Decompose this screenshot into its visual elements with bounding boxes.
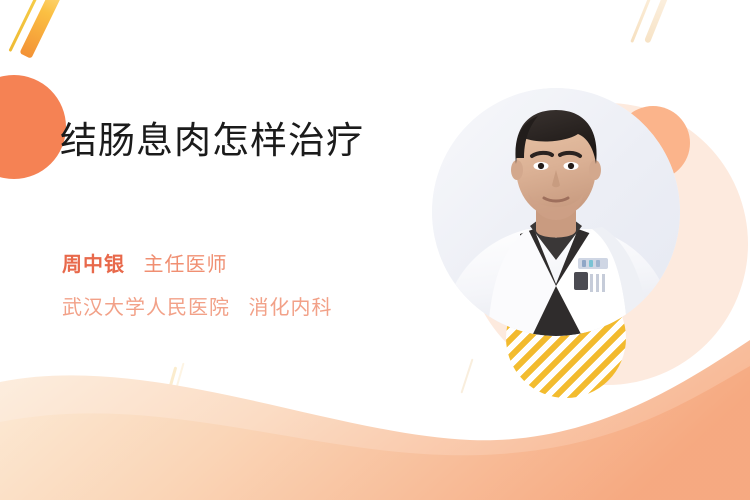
bottom-slash-icon-2 bbox=[169, 363, 184, 410]
pale-peach-circle-icon bbox=[466, 103, 748, 385]
text-block: 结肠息肉怎样治疗 bbox=[60, 118, 420, 165]
hospital-name: 武汉大学人民医院 bbox=[62, 297, 230, 319]
doctor-affiliation-line: 武汉大学人民医院 消化内科 bbox=[62, 291, 332, 320]
doctor-identity-line: 周中银 主任医师 bbox=[62, 248, 227, 277]
top-left-thick-stripe-icon bbox=[19, 0, 69, 59]
doctor-portrait bbox=[432, 88, 680, 336]
yellow-striped-circle-icon bbox=[506, 278, 626, 398]
top-right-thick-stripe-icon bbox=[644, 0, 674, 44]
top-left-thin-stripe-icon bbox=[8, 0, 42, 52]
left-orange-circle-icon bbox=[0, 75, 66, 179]
peach-accent-circle-icon bbox=[616, 106, 690, 180]
bottom-slash-icon-3 bbox=[460, 359, 473, 394]
doctor-title: 主任医师 bbox=[143, 254, 227, 276]
top-right-thin-stripe-icon bbox=[630, 0, 655, 43]
bottom-slash-icon-1 bbox=[162, 366, 178, 411]
page-title: 结肠息肉怎样治疗 bbox=[60, 118, 420, 165]
department-name: 消化内科 bbox=[248, 297, 332, 319]
bottom-wave-decoration bbox=[0, 330, 750, 500]
doctor-intro-card: 结肠息肉怎样治疗 周中银 主任医师 武汉大学人民医院 消化内科 bbox=[0, 0, 750, 500]
doctor-name: 周中银 bbox=[62, 254, 125, 276]
